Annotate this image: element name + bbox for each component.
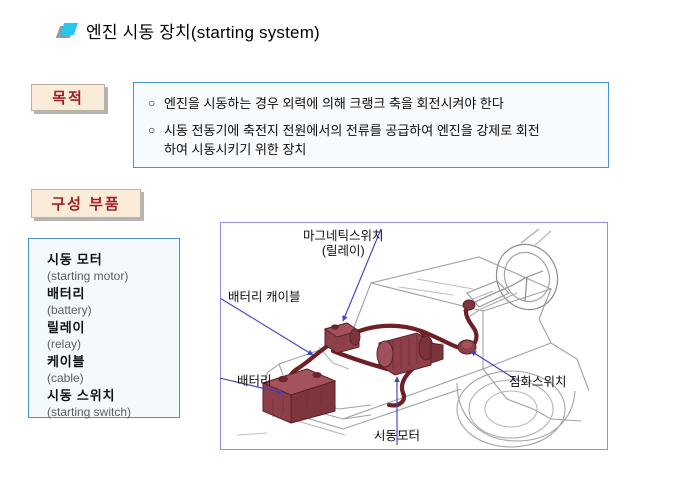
starting-system-diagram	[221, 223, 607, 449]
circle-bullet-icon: ○	[148, 94, 164, 113]
list-item: 배터리 (battery)	[47, 285, 179, 318]
cyan-parallelogram-icon	[58, 23, 77, 38]
part-name-english: (cable)	[47, 370, 179, 386]
diagram-label-magnetic-switch-line2: (릴레이)	[303, 244, 384, 259]
page-title: 엔진 시동 장치(starting system)	[58, 18, 320, 43]
diagram-label-ignition-switch-line1: 점화스위치	[509, 375, 567, 390]
part-name-korean: 릴레이	[47, 319, 179, 336]
part-name-korean: 시동 모터	[47, 251, 179, 268]
diagram-panel: 마그네틱스위치 (릴레이) 시동모터 점화스위치	[220, 222, 608, 450]
part-name-english: (starting motor)	[47, 268, 179, 284]
part-name-english: (battery)	[47, 302, 179, 318]
diagram-label-magnetic-switch-line1: 마그네틱스위치	[303, 229, 384, 244]
part-name-korean: 배터리	[47, 285, 179, 302]
starting-motor-part	[377, 333, 443, 375]
section-label-parts-text: 구성 부품	[51, 193, 120, 214]
page-title-text: 엔진 시동 장치(starting system)	[86, 18, 320, 43]
diagram-label-battery-cable: 배터리 캐이블	[228, 290, 300, 305]
part-name-english: (starting switch)	[47, 404, 179, 420]
list-item: ○ 엔진을 시동하는 경우 외력에 의해 크랭크 축을 회전시켜야 한다	[148, 94, 594, 113]
list-item: 케이블 (cable)	[47, 353, 179, 386]
diagram-label-battery: 배터리	[237, 374, 272, 389]
steering-wheel-icon	[463, 229, 568, 319]
purpose-item-text: 엔진을 시동하는 경우 외력에 의해 크랭크 축을 회전시켜야 한다	[164, 94, 504, 113]
circle-bullet-icon: ○	[148, 121, 164, 140]
list-item: 시동 모터 (starting motor)	[47, 251, 179, 284]
section-label-parts: 구성 부품	[31, 189, 141, 218]
diagram-label-battery-line1: 배터리	[237, 374, 272, 389]
part-name-korean: 케이블	[47, 353, 179, 370]
purpose-panel: ○ 엔진을 시동하는 경우 외력에 의해 크랭크 축을 회전시켜야 한다 ○ 시…	[133, 82, 609, 168]
purpose-item-text: 시동 전동기에 축전지 전원에서의 전류를 공급하여 엔진을 강제로 회전 하여…	[164, 121, 540, 159]
parts-list-panel: 시동 모터 (starting motor) 배터리 (battery) 릴레이…	[28, 238, 180, 418]
part-name-korean: 시동 스위치	[47, 387, 179, 404]
part-name-english: (relay)	[47, 336, 179, 352]
diagram-label-magnetic-switch: 마그네틱스위치 (릴레이)	[303, 229, 384, 259]
diagram-label-ignition-switch: 점화스위치	[509, 375, 567, 390]
list-item: ○ 시동 전동기에 축전지 전원에서의 전류를 공급하여 엔진을 강제로 회전 …	[148, 121, 594, 159]
section-label-purpose: 목적	[31, 84, 105, 111]
magnetic-switch-part	[325, 323, 360, 353]
section-label-purpose-text: 목적	[52, 87, 84, 108]
list-item: 시동 스위치 (starting switch)	[47, 387, 179, 420]
battery-part	[263, 369, 335, 423]
diagram-label-battery-cable-line1: 배터리 캐이블	[228, 290, 300, 305]
list-item: 릴레이 (relay)	[47, 319, 179, 352]
diagram-label-starting-motor: 시동모터	[374, 429, 420, 444]
diagram-label-starting-motor-line1: 시동모터	[374, 429, 420, 444]
